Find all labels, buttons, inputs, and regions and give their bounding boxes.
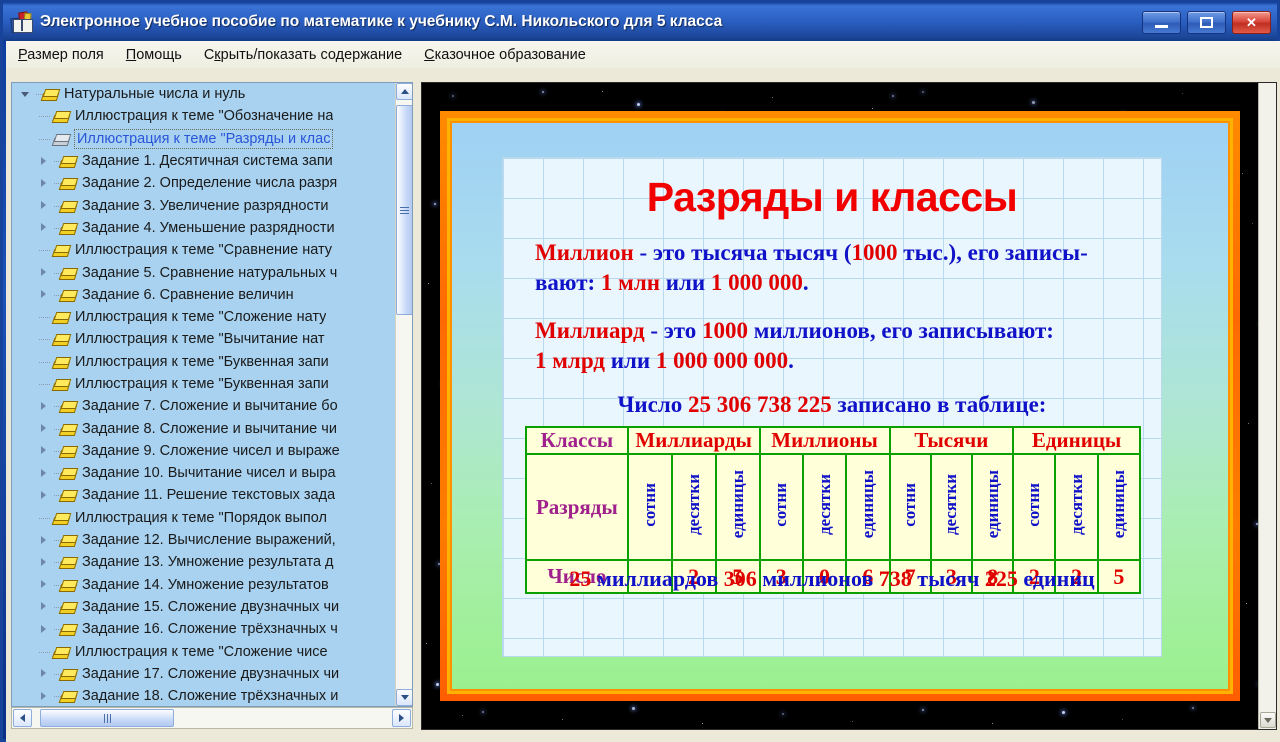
- tree-connector: [38, 351, 52, 373]
- maximize-icon: [1200, 17, 1213, 28]
- maximize-button[interactable]: [1187, 11, 1226, 34]
- tree-item-label: Задание 16. Сложение трёхзначных ч: [82, 621, 338, 637]
- text-run: 1 000 000 000: [656, 348, 788, 373]
- book-icon: [59, 221, 76, 235]
- grip-icon: [400, 207, 409, 214]
- tree-collapse-icon[interactable]: [20, 88, 33, 101]
- tree-item-label: Задание 3. Увеличение разрядности: [82, 198, 328, 214]
- tree-item-label: Иллюстрация к теме "Обозначение на: [75, 108, 333, 124]
- book-icon: [59, 689, 76, 703]
- tree-item[interactable]: Задание 12. Вычисление выражений,: [12, 529, 396, 551]
- window-title: Электронное учебное пособие по математик…: [40, 13, 722, 31]
- text-run: единиц: [1018, 566, 1095, 591]
- menu-mnemonic: П: [126, 47, 136, 63]
- slide-frame-outer: Разряды и классы Миллион - это тысяча ты…: [440, 111, 1240, 701]
- tree-item-label: Натуральные числа и нуль: [64, 86, 245, 102]
- book-icon: [59, 667, 76, 681]
- tree-item-label: Иллюстрация к теме "Буквенная запи: [75, 376, 329, 392]
- contents-tree[interactable]: Натуральные числа и нульИллюстрация к те…: [12, 83, 396, 706]
- text-run: 1 млн: [601, 270, 660, 295]
- tree-item[interactable]: Задание 7. Сложение и вычитание бо: [12, 395, 396, 417]
- table-rank-label: единицы: [858, 470, 878, 538]
- tree-item[interactable]: Иллюстрация к теме "Обозначение на: [12, 105, 396, 127]
- tree-item[interactable]: Задание 15. Сложение двузначных чи: [12, 596, 396, 618]
- star-icon: [436, 683, 439, 686]
- star-icon: [431, 483, 432, 484]
- slide-summary: 25 миллиардов 306 миллионов 738 тысяч 22…: [503, 566, 1161, 592]
- tree-item[interactable]: Иллюстрация к теме "Сложение нату: [12, 306, 396, 328]
- tree-expand-icon[interactable]: [38, 690, 51, 703]
- table-class-cell: Единицы: [1013, 427, 1140, 454]
- book-icon: [59, 533, 76, 547]
- table-rank-cell: сотни: [890, 454, 931, 560]
- tree-item[interactable]: Задание 18. Сложение трёхзначных и: [12, 685, 396, 706]
- tree-item-label: Иллюстрация к теме "Сравнение нату: [75, 242, 332, 258]
- star-icon: [992, 723, 993, 724]
- table-rank-cell: сотни: [760, 454, 803, 560]
- book-icon: [59, 578, 76, 592]
- content-scroll-down-button[interactable]: [1260, 712, 1276, 728]
- tree-expand-icon[interactable]: [38, 221, 51, 234]
- tree-expand-icon[interactable]: [38, 467, 51, 480]
- table-rank-cell: десятки: [672, 454, 716, 560]
- star-icon: [562, 719, 563, 720]
- star-icon: [428, 283, 429, 284]
- menu-bar: Размер поляПомощьСкрыть/показать содержа…: [6, 41, 1280, 69]
- star-icon: [852, 721, 853, 722]
- tree-expand-icon[interactable]: [38, 288, 51, 301]
- tree-item[interactable]: Иллюстрация к теме "Порядок выпол: [12, 507, 396, 529]
- star-icon: [1242, 173, 1243, 174]
- slide-frame-middle: Разряды и классы Миллион - это тысяча ты…: [447, 118, 1233, 694]
- tree-item[interactable]: Задание 4. Уменьшение разрядности: [12, 217, 396, 239]
- book-icon: [59, 154, 76, 168]
- table-class-cell: Миллионы: [760, 427, 890, 454]
- close-icon: ✕: [1246, 16, 1257, 29]
- slide-paragraph-1: Миллион - это тысяча тысяч (1000 тыс.), …: [535, 238, 1135, 299]
- tree-connector: [38, 507, 52, 529]
- table-rank-cell: десятки: [1055, 454, 1097, 560]
- tree-expand-icon[interactable]: [38, 155, 51, 168]
- tree-item-label: Задание 5. Сравнение натуральных ч: [82, 265, 337, 281]
- tree-item[interactable]: Задание 1. Десятичная система запи: [12, 150, 396, 172]
- tree-item-label: Задание 18. Сложение трёхзначных и: [82, 688, 338, 704]
- client-area: Натуральные числа и нульИллюстрация к те…: [6, 68, 1280, 742]
- tree-item-label: Задание 7. Сложение и вычитание бо: [82, 398, 338, 414]
- table-rank-cell: единицы: [972, 454, 1013, 560]
- tree-item[interactable]: Задание 17. Сложение двузначных чи: [12, 663, 396, 685]
- tree-expand-icon[interactable]: [38, 534, 51, 547]
- tree-item[interactable]: Задание 14. Умножение результатов: [12, 574, 396, 596]
- tree-item-label: Задание 6. Сравнение величин: [82, 287, 294, 303]
- tree-item[interactable]: Задание 2. Определение числа разря: [12, 172, 396, 194]
- book-icon: [52, 332, 69, 346]
- tree-expand-icon[interactable]: [38, 556, 51, 569]
- book-icon: [52, 355, 69, 369]
- book-icon: [52, 132, 69, 146]
- tree-item-label: Задание 15. Сложение двузначных чи: [82, 599, 339, 615]
- minimize-button[interactable]: [1142, 11, 1181, 34]
- book-icon: [59, 622, 76, 636]
- tree-scroll-right-button[interactable]: [392, 709, 411, 727]
- tree-item-label: Задание 8. Сложение и вычитание чи: [82, 421, 337, 437]
- tree-expand-icon[interactable]: [38, 199, 51, 212]
- text-run: - это тысяча тысяч (: [634, 240, 852, 265]
- tree-expand-icon[interactable]: [38, 177, 51, 190]
- book-icon: [59, 199, 76, 213]
- close-button[interactable]: ✕: [1232, 11, 1271, 34]
- tree-item-label: Иллюстрация к теме "Сложение нату: [75, 309, 326, 325]
- tree-item-label: Иллюстрация к теме "Сложение чисе: [75, 644, 328, 660]
- table-row: Разрядысотнидесяткиединицысотнидесяткиед…: [526, 454, 1140, 560]
- text-run: 306: [724, 566, 757, 591]
- star-icon: [1062, 711, 1065, 714]
- slide-frame-inner: Разряды и классы Миллион - это тысяча ты…: [452, 123, 1228, 689]
- star-icon: [1248, 423, 1249, 424]
- tree-item[interactable]: Иллюстрация к теме "Сложение чисе: [12, 640, 396, 662]
- text-run: 1 000 000: [711, 270, 803, 295]
- slide-viewer: Разряды и классы Миллион - это тысяча ты…: [421, 82, 1277, 730]
- table-rank-label: сотни: [900, 483, 920, 527]
- star-icon: [426, 643, 427, 644]
- window-controls: ✕: [1142, 11, 1271, 34]
- tree-item[interactable]: Иллюстрация к теме "Буквенная запи: [12, 373, 396, 395]
- menu-mnemonic: к: [214, 47, 220, 63]
- book-icon: [52, 645, 69, 659]
- table-rank-cell: единицы: [716, 454, 760, 560]
- text-run: записано в таблице:: [832, 392, 1047, 417]
- tree-item[interactable]: Задание 8. Сложение и вычитание чи: [12, 417, 396, 439]
- table-rank-cell: сотни: [628, 454, 672, 560]
- tree-horizontal-scrollbar[interactable]: [11, 707, 413, 729]
- minimize-icon: [1155, 25, 1168, 28]
- star-icon: [1192, 707, 1194, 709]
- application-window: Электронное учебное пособие по математик…: [0, 0, 1280, 742]
- tree-item-label: Задание 12. Вычисление выражений,: [82, 532, 336, 548]
- tree-scroll-up-button[interactable]: [396, 83, 413, 100]
- text-run: миллионов, его записывают:: [748, 318, 1054, 343]
- menu-item-0[interactable]: Размер поля: [8, 44, 114, 66]
- table-rank-label: десятки: [815, 474, 835, 535]
- menu-item-3[interactable]: Сказочное образование: [414, 44, 596, 66]
- table-rank-cell: единицы: [846, 454, 889, 560]
- tree-item[interactable]: Иллюстрация к теме "Буквенная запи: [12, 351, 396, 373]
- text-run: - это: [645, 318, 702, 343]
- tree-scroll-left-button[interactable]: [13, 709, 32, 727]
- contents-tree-panel[interactable]: Натуральные числа и нульИллюстрация к те…: [11, 82, 413, 707]
- tree-item-label: Иллюстрация к теме "Вычитание нат: [75, 331, 325, 347]
- tree-expand-icon[interactable]: [38, 578, 51, 591]
- text-run: 738: [879, 566, 912, 591]
- text-run: Миллиард: [535, 318, 645, 343]
- tree-expand-icon[interactable]: [38, 489, 51, 502]
- tree-item[interactable]: Иллюстрация к теме "Сравнение нату: [12, 239, 396, 261]
- book-icon: [59, 288, 76, 302]
- star-icon: [892, 95, 894, 97]
- tree-expand-icon[interactable]: [38, 623, 51, 636]
- tree-item[interactable]: Задание 10. Вычитание чисел и выра: [12, 462, 396, 484]
- star-icon: [772, 97, 773, 98]
- star-icon: [1252, 223, 1253, 224]
- grip-icon: [104, 714, 111, 723]
- tree-vertical-scrollbar[interactable]: [395, 83, 412, 706]
- book-icon: [52, 511, 69, 525]
- books-icon: [11, 11, 33, 33]
- tree-item-label: Задание 2. Определение числа разря: [82, 175, 337, 191]
- tree-connector: [38, 105, 52, 127]
- table-rank-label: сотни: [771, 483, 791, 527]
- tree-expand-icon[interactable]: [38, 422, 51, 435]
- text-run: миллиардов: [591, 566, 723, 591]
- tree-item[interactable]: Задание 16. Сложение трёхзначных ч: [12, 618, 396, 640]
- tree-item-label: Задание 13. Умножение результата д: [82, 554, 334, 570]
- book-icon: [59, 600, 76, 614]
- tree-item[interactable]: Иллюстрация к теме "Вычитание нат: [12, 328, 396, 350]
- tree-item[interactable]: Задание 11. Решение текстовых зада: [12, 484, 396, 506]
- star-icon: [782, 713, 784, 715]
- tree-item[interactable]: Иллюстрация к теме "Разряды и клас: [12, 128, 396, 150]
- star-icon: [462, 715, 463, 716]
- table-rank-cell: десятки: [931, 454, 972, 560]
- chevron-left-icon: [20, 714, 25, 722]
- menu-item-2[interactable]: Скрыть/показать содержание: [194, 44, 412, 66]
- content-vertical-scrollbar[interactable]: [1258, 83, 1276, 729]
- star-icon: [602, 91, 603, 92]
- tree-item[interactable]: Натуральные числа и нуль: [12, 83, 396, 105]
- text-run: 25 306 738 225: [688, 392, 832, 417]
- book-icon: [52, 310, 69, 324]
- chevron-down-icon: [1264, 718, 1272, 723]
- table-rank-label: десятки: [1067, 474, 1087, 535]
- table-rank-label: десятки: [941, 474, 961, 535]
- table-rank-cell: единицы: [1098, 454, 1140, 560]
- tree-connector: [38, 306, 52, 328]
- tree-item-label: Задание 14. Умножение результатов: [82, 577, 329, 593]
- tree-connector: [38, 128, 52, 150]
- tree-item-label: Иллюстрация к теме "Порядок выпол: [75, 510, 327, 526]
- table-rank-label: единицы: [728, 470, 748, 538]
- star-icon: [1122, 719, 1123, 720]
- table-row: КлассыМиллиардыМиллионыТысячиЕдиницы: [526, 427, 1140, 454]
- tree-expand-icon[interactable]: [38, 667, 51, 680]
- slide-title: Разряды и классы: [503, 174, 1161, 221]
- book-icon: [52, 243, 69, 257]
- text-run: миллионов: [757, 566, 879, 591]
- table-class-cell: Миллиарды: [628, 427, 760, 454]
- book-icon: [41, 87, 58, 101]
- book-icon: [59, 555, 76, 569]
- text-run: вают:: [535, 270, 601, 295]
- tree-item-label: Задание 11. Решение текстовых зада: [82, 487, 335, 503]
- book-icon: [59, 176, 76, 190]
- chevron-down-icon: [401, 695, 409, 700]
- text-run: .: [788, 348, 794, 373]
- star-icon: [1032, 101, 1035, 104]
- text-run: 1 млрд: [535, 348, 605, 373]
- tree-scroll-down-button[interactable]: [396, 689, 413, 706]
- tree-expand-icon[interactable]: [38, 444, 51, 457]
- table-rank-cell: сотни: [1013, 454, 1055, 560]
- text-run: или: [605, 348, 656, 373]
- tree-connector: [38, 239, 52, 261]
- star-icon: [1182, 93, 1183, 94]
- tree-expand-icon[interactable]: [38, 600, 51, 613]
- title-bar: Электронное учебное пособие по математик…: [3, 3, 1277, 41]
- book-icon: [59, 422, 76, 436]
- text-run: 1000: [702, 318, 748, 343]
- tree-item[interactable]: Задание 3. Увеличение разрядности: [12, 194, 396, 216]
- menu-mnemonic: Р: [18, 47, 27, 63]
- tree-hscrollbar-thumb[interactable]: [40, 709, 174, 727]
- text-run: или: [660, 270, 711, 295]
- table-rank-label: единицы: [983, 470, 1003, 538]
- slide-paragraph-2: Миллиард - это 1000 миллионов, его запис…: [535, 316, 1135, 377]
- tree-expand-icon[interactable]: [38, 400, 51, 413]
- tree-connector: [38, 641, 52, 663]
- table-class-cell: Тысячи: [890, 427, 1014, 454]
- slide-paragraph-3: Число 25 306 738 225 записано в таблице:: [503, 390, 1161, 420]
- menu-item-1[interactable]: Помощь: [116, 44, 192, 66]
- tree-item-label: Задание 9. Сложение чисел и выраже: [82, 443, 340, 459]
- star-icon: [637, 103, 640, 106]
- text-run: 225: [985, 566, 1018, 591]
- text-run: 25: [569, 566, 591, 591]
- star-icon: [632, 707, 635, 710]
- table-rank-label: сотни: [1024, 483, 1044, 527]
- tree-expand-icon[interactable]: [38, 266, 51, 279]
- star-icon: [922, 91, 924, 93]
- text-run: тыс.), его записы-: [898, 240, 1088, 265]
- star-icon: [702, 723, 703, 724]
- tree-item[interactable]: Задание 5. Сравнение натуральных ч: [12, 261, 396, 283]
- tree-item[interactable]: Задание 6. Сравнение величин: [12, 284, 396, 306]
- star-icon: [922, 709, 924, 711]
- text-run: Число: [618, 392, 689, 417]
- star-icon: [1246, 603, 1247, 604]
- chevron-right-icon: [399, 714, 404, 722]
- tree-item-label: Иллюстрация к теме "Разряды и клас: [75, 130, 332, 148]
- table-rank-label: десятки: [684, 474, 704, 535]
- book-icon: [59, 466, 76, 480]
- table-rank-label: сотни: [640, 483, 660, 527]
- table-header-ranks: Разряды: [526, 454, 628, 560]
- tree-connector: [38, 373, 52, 395]
- table-rank-label: единицы: [1109, 470, 1129, 538]
- star-icon: [434, 203, 436, 205]
- star-icon: [482, 711, 484, 713]
- menu-mnemonic: С: [424, 47, 434, 63]
- tree-item-label: Задание 4. Уменьшение разрядности: [82, 220, 335, 236]
- book-icon: [59, 266, 76, 280]
- tree-item-label: Задание 10. Вычитание чисел и выра: [82, 465, 336, 481]
- table-header-classes: Классы: [526, 427, 628, 454]
- text-run: 1000: [852, 240, 898, 265]
- text-run: тысяч: [912, 566, 985, 591]
- book-icon: [52, 109, 69, 123]
- tree-item-label: Иллюстрация к теме "Буквенная запи: [75, 354, 329, 370]
- chevron-up-icon: [401, 89, 409, 94]
- tree-item-label: Задание 1. Десятичная система запи: [82, 153, 333, 169]
- book-icon: [59, 399, 76, 413]
- book-icon: [59, 444, 76, 458]
- star-icon: [452, 95, 454, 97]
- text-run: Миллион: [535, 240, 634, 265]
- text-run: .: [803, 270, 809, 295]
- star-icon: [872, 108, 873, 109]
- table-rank-cell: десятки: [803, 454, 846, 560]
- tree-item[interactable]: Задание 9. Сложение чисел и выраже: [12, 440, 396, 462]
- tree-item[interactable]: Задание 13. Умножение результата д: [12, 551, 396, 573]
- star-icon: [542, 91, 544, 93]
- slide-sheet: Разряды и классы Миллион - это тысяча ты…: [502, 157, 1162, 657]
- tree-scrollbar-thumb[interactable]: [396, 105, 413, 315]
- tree-item-label: Задание 17. Сложение двузначных чи: [82, 666, 339, 682]
- tree-connector: [38, 328, 52, 350]
- book-icon: [59, 488, 76, 502]
- book-icon: [52, 377, 69, 391]
